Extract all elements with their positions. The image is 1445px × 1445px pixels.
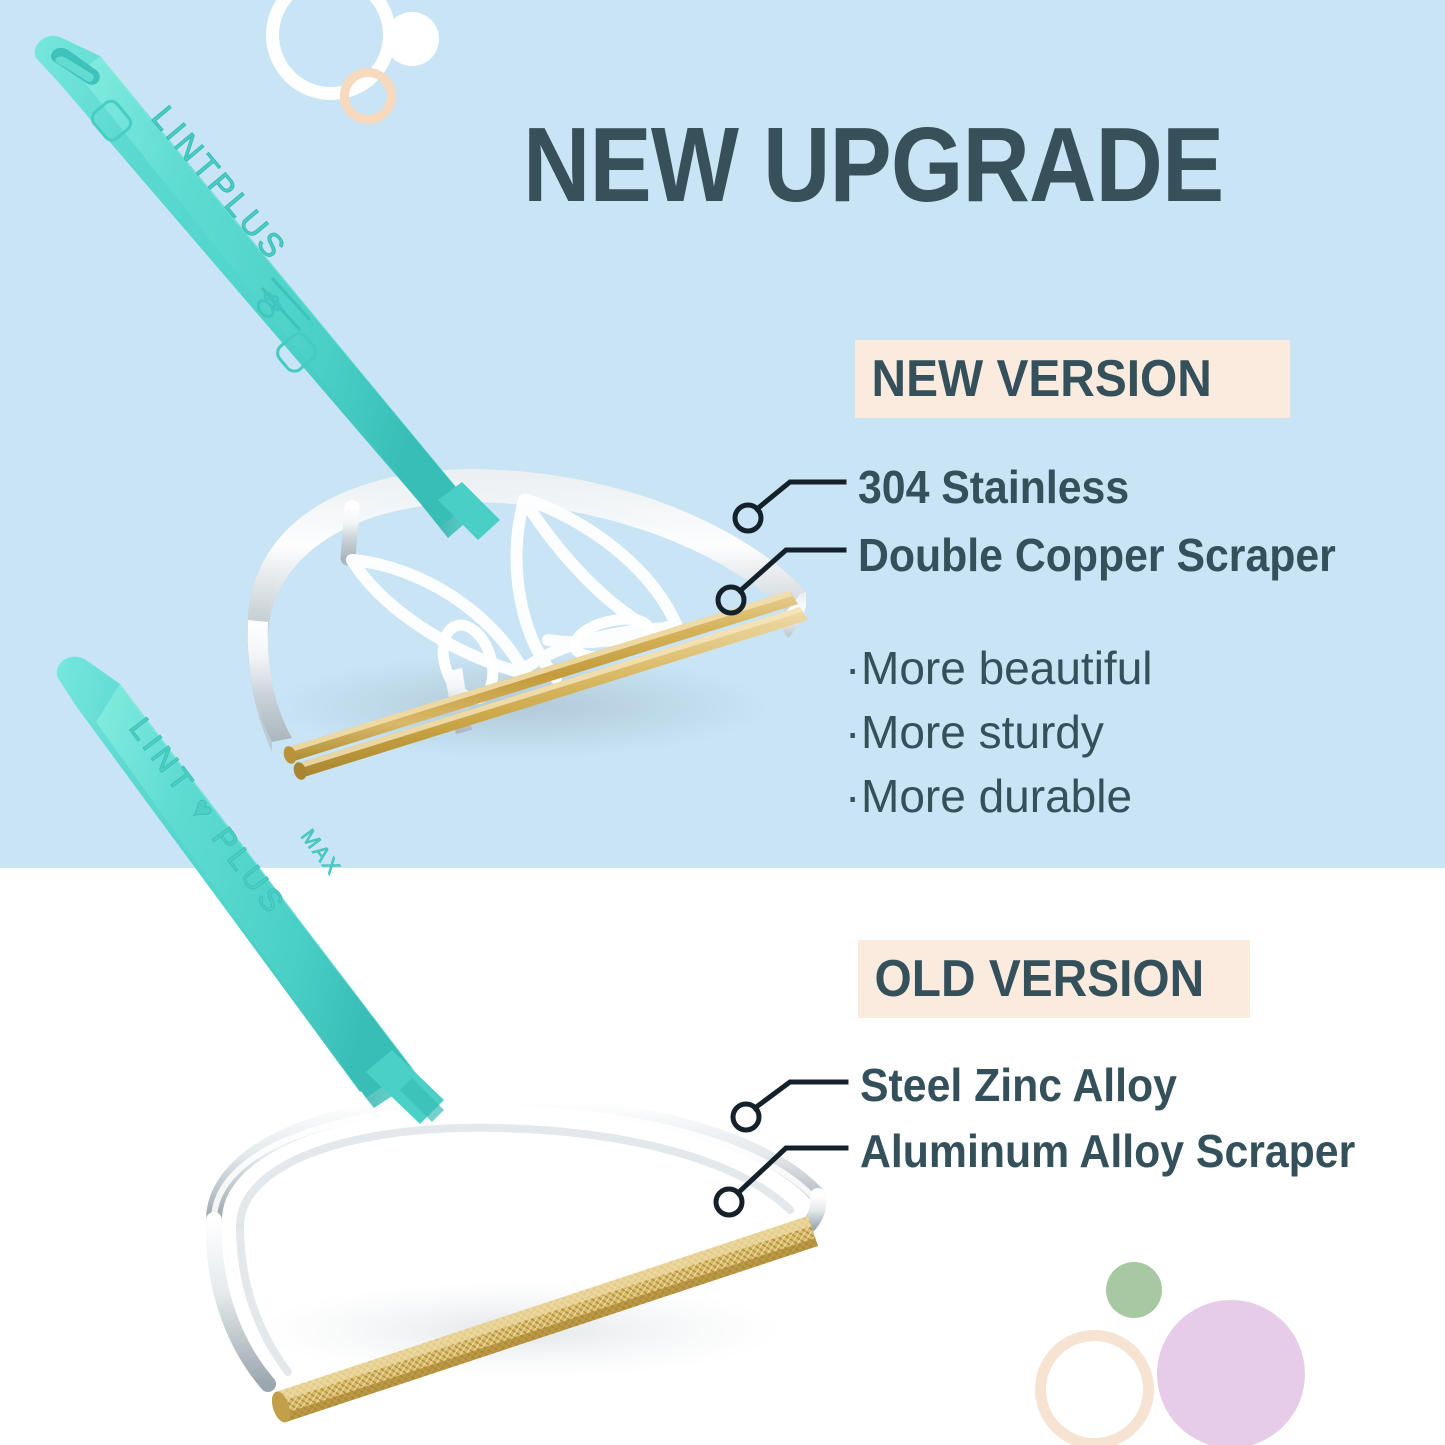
bullet-glyph-1: ·: [845, 636, 861, 700]
spec-label-steel-zinc-alloy: Steel Zinc Alloy: [860, 1062, 1177, 1108]
spec-label-aluminum-alloy-scraper: Aluminum Alloy Scraper: [860, 1128, 1355, 1174]
feature-item-more-sturdy: ·More sturdy: [845, 700, 1153, 764]
page-title: NEW UPGRADE: [523, 110, 1223, 221]
old-version-badge: OLD VERSION: [858, 940, 1250, 1018]
new-version-feature-list: ·More beautiful ·More sturdy ·More durab…: [845, 636, 1153, 828]
new-version-badge: NEW VERSION: [855, 340, 1290, 418]
feature-label-3: More durable: [861, 770, 1132, 822]
feature-item-more-beautiful: ·More beautiful: [845, 636, 1153, 700]
old-version-badge-label: OLD VERSION: [858, 949, 1204, 1009]
spec-label-304-stainless: 304 Stainless: [858, 464, 1129, 510]
decor-ring-peach-small: [340, 68, 396, 124]
feature-label-2: More sturdy: [861, 706, 1104, 758]
spec-label-double-copper-scraper: Double Copper Scraper: [858, 532, 1336, 578]
feature-item-more-durable: ·More durable: [845, 764, 1153, 828]
infographic-canvas: LINTPLUS: [0, 0, 1445, 1445]
feature-label-1: More beautiful: [861, 642, 1153, 694]
bullet-glyph-2: ·: [845, 700, 861, 764]
bullet-glyph-3: ·: [845, 764, 861, 828]
decor-dot-lilac: [1157, 1300, 1305, 1445]
decor-ring-peach-large: [1035, 1330, 1154, 1445]
new-version-badge-label: NEW VERSION: [855, 349, 1212, 409]
decor-dot-green: [1106, 1262, 1162, 1318]
decor-dot-white: [385, 12, 439, 66]
